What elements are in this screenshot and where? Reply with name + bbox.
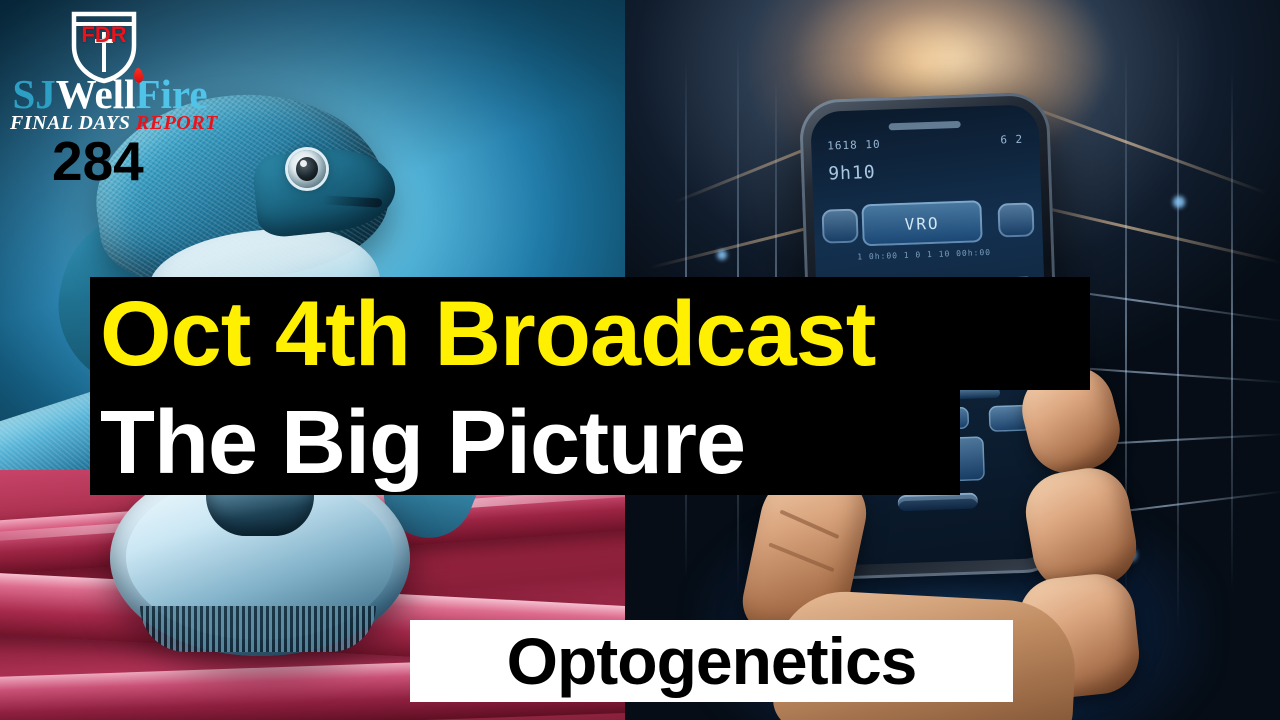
thumb-crease bbox=[779, 509, 839, 539]
title-line-1-bar: Oct 4th Broadcast bbox=[90, 277, 1090, 390]
subtitle-text: Optogenetics bbox=[507, 628, 917, 694]
phone-right-button bbox=[997, 202, 1034, 237]
phone-bottom-speaker bbox=[898, 493, 979, 512]
phone-clock: 9h10 bbox=[828, 162, 876, 185]
thumb-crease bbox=[768, 542, 834, 572]
title-line-1: Oct 4th Broadcast bbox=[90, 288, 875, 380]
light-spark bbox=[717, 250, 727, 260]
brand-well: Well bbox=[56, 71, 136, 117]
phone-earpiece bbox=[889, 121, 961, 131]
title-line-2: The Big Picture bbox=[90, 398, 745, 488]
phone-status-right: 6 2 bbox=[1000, 133, 1023, 147]
brand-wordmark: SJWellFire bbox=[10, 74, 210, 115]
tagline-report: REPORT bbox=[136, 112, 218, 134]
snake-eye bbox=[288, 150, 326, 188]
stethoscope-knurled-rim bbox=[140, 606, 376, 652]
fdr-label: FDR bbox=[66, 22, 142, 48]
stethoscope-chestpiece bbox=[110, 470, 410, 656]
youtube-thumbnail: 1618 10 6 2 9h10 VRO 1 0h:00 1 0 1 10 00… bbox=[0, 0, 1280, 720]
snake-pupil bbox=[296, 157, 318, 181]
phone-widget: VRO bbox=[861, 200, 982, 246]
phone-widget-caption: 1 0h:00 1 0 1 10 00h:00 bbox=[851, 248, 997, 262]
phone-left-button bbox=[822, 209, 859, 244]
brand-fire: Fire bbox=[135, 71, 207, 117]
phone-widget-text: VRO bbox=[861, 200, 982, 246]
subtitle-bar: Optogenetics bbox=[410, 620, 1013, 702]
phone-status-left: 1618 10 bbox=[827, 138, 881, 153]
brand-sj: SJ bbox=[12, 71, 55, 117]
episode-number: 284 bbox=[52, 134, 144, 189]
channel-logo: FDR SJWellFire FINAL DAYS REPORT 284 bbox=[10, 8, 210, 188]
title-line-2-bar: The Big Picture bbox=[90, 390, 960, 495]
light-spark bbox=[1173, 196, 1185, 208]
corridor-rail bbox=[1231, 70, 1233, 590]
